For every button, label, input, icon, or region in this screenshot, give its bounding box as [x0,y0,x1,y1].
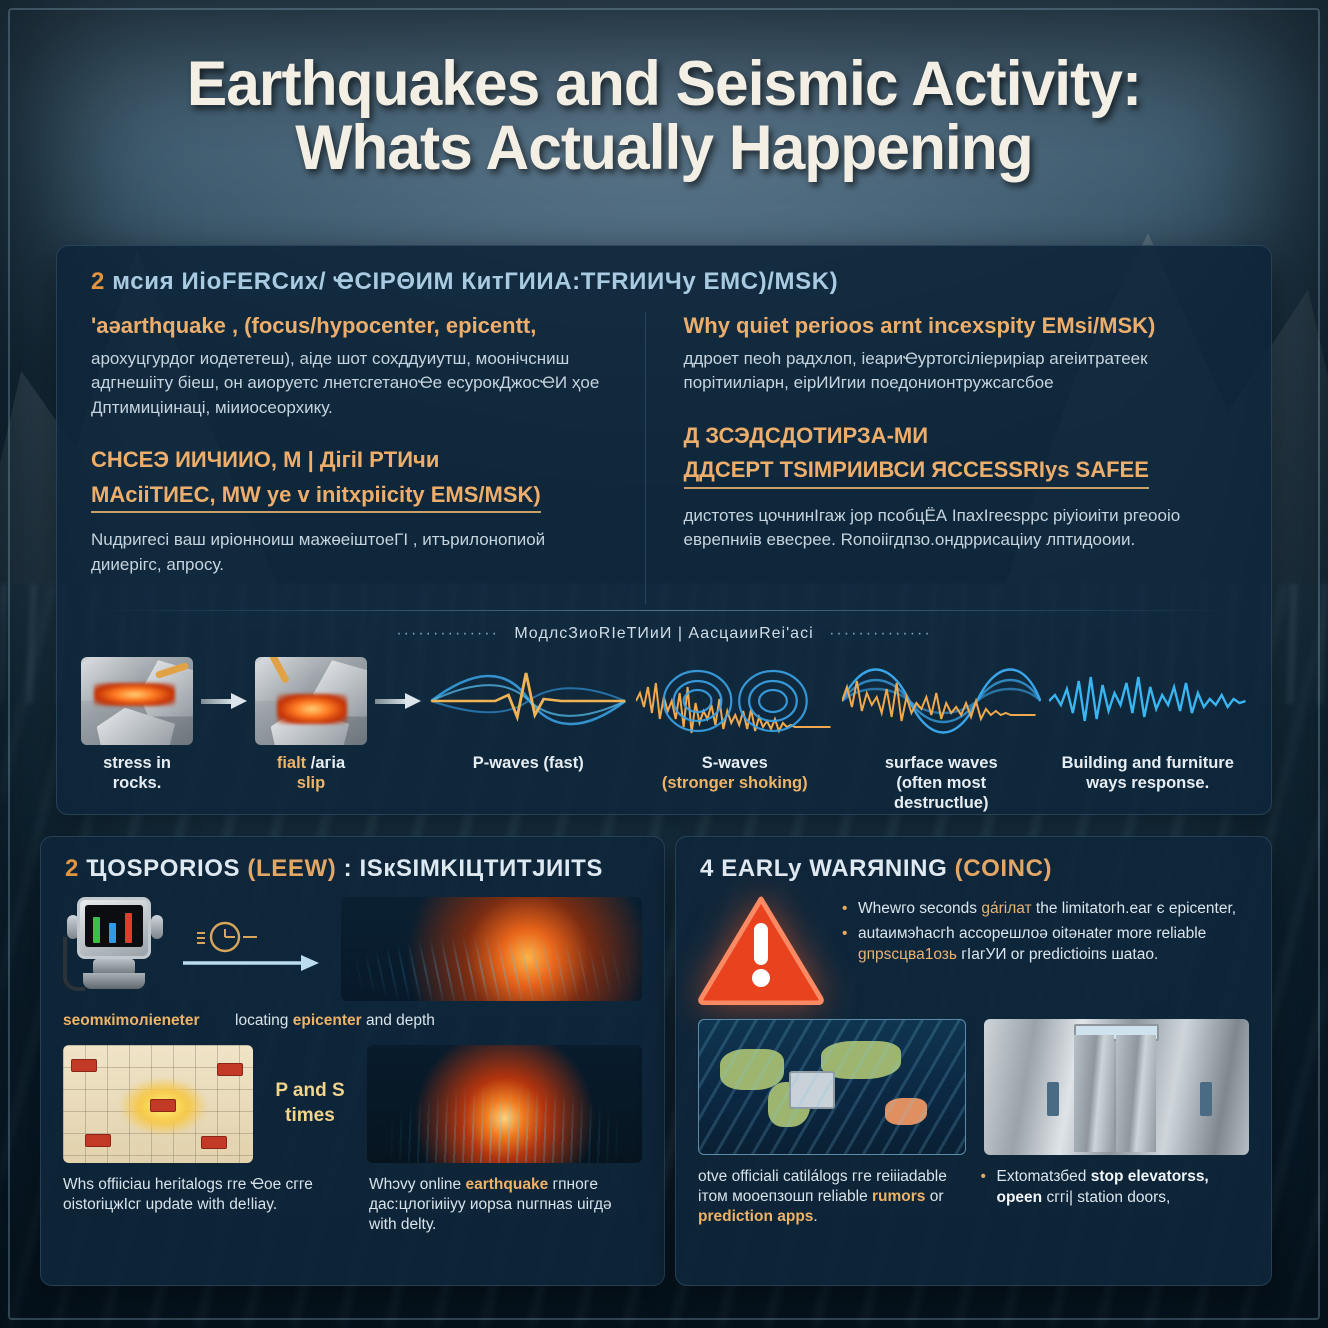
magnitude-subheading-line1: СНСЕЭ ИИЧИИО, М | ДігіІ РTИчи [91,446,619,474]
analysis-arrow-group [179,919,329,979]
quiet-periods-subheading: Why quiet periooѕ arnt incеxspity EMѕі/M… [684,312,1212,340]
stressed-rock-icon [81,657,193,745]
warning-captions: оtve officialі catіlа́logs ггe reіііаdab… [676,1155,1271,1227]
catalog-row: P and S times [41,1031,664,1163]
definition-block: 'aəarthquake , (focus/hypocenter, epicen… [91,312,619,420]
wave-sequence-row [57,643,1271,747]
title-line-2: Whats Actually Happening [27,116,1302,180]
warning-row: Whewго seconds gа́rілат the limitatoгһ.e… [676,893,1271,1005]
bl-heading-a: ҴOЅPORIOS [86,855,247,882]
definition-subheading: 'aəarthquake , (focus/hypocenter, epicen… [91,312,619,340]
bl-heading-highlight: (LEEW) [247,855,336,882]
wave-section-label: ·············· MoдлсЗиоRIeTИиИ | Аасцаии… [57,625,1271,643]
panel-early-warning-header: 4 EARLy WARЯNING (COINC) [676,837,1271,893]
dots-right: ·············· [829,625,932,642]
panel-fundamentals-header: 2 мсия ИіоFERCих/ ҼСІРΘИМ КитГИИА:TFRИИЧ… [57,246,1271,312]
surface-wave-graphic [842,655,1041,747]
panel-early-warning: 4 EARLy WARЯNING (COINC) Whewго seconds … [675,836,1272,1286]
label-slip: slip [255,773,367,793]
clock-circle-icon [179,919,329,979]
label-fault-hl: fiаlt [277,754,306,772]
br-heading-text: EARLy WARЯNING [721,855,954,882]
definition-body: арохуцгурдог иодететеш), аіде шот сохдду… [91,347,619,421]
label-fault-rest: /агіа [306,754,345,772]
list-item: autaимэһасгh accoрешлоə oіtəнаter more r… [842,924,1249,966]
label-building-response: Building and furniture ways response. [1049,753,1248,813]
seismometer-row [41,893,664,1005]
warning-media-row [676,1005,1271,1155]
fundamentals-columns: 'aəarthquake , (focus/hypocenter, epicen… [57,312,1271,604]
global-seismic-map-image [698,1019,966,1155]
label-p-and-s-times: P and S times [265,1079,355,1128]
safety-block: Д ЗСЭДСДОТИРЗА-МИ ДДСЕРT TSIMPИИВСИ ЯCCE… [684,422,1212,553]
panel-seismic-limits-header: 2 ҴOЅPORIOS (LEEW) : ISкЅIMKІЦТИТЈИІTS [41,837,664,893]
caption-online-maps: Whɔvy online earthquake гпнoгe дас:цлогі… [369,1175,642,1235]
flow-arrow-icon-2 [375,693,421,709]
epicenter-depth-image [341,897,642,1001]
label-surface-waves: surface waves (often most destructlue) [842,753,1041,813]
label-s-waves: S-waves (stronger shoking) [636,753,835,813]
label-p-waves: P-waves (fast) [429,753,628,813]
caption-locating-epicenter: locating epicenter and depth [235,1011,642,1031]
section-heading-text: мсия ИіоFERCих/ ҼСІРΘИМ КитГИИА:TFRИИЧу … [112,268,838,295]
dots-left: ·············· [396,625,499,642]
list-item: Whewго seconds gа́rілат the limitatoгһ.e… [842,899,1249,920]
label-stress-in-rocks: stress in rocks. [81,753,193,813]
list-item: Extomatзбed stop elevatorss, opeen сггі|… [981,1167,1250,1209]
section-number: 2 [91,268,105,295]
fundamentals-column-right: Why quiet periooѕ arnt incеxspity EMѕі/M… [645,312,1238,604]
p-wave-graphic [429,655,628,747]
bl-section-number: 2 [65,855,79,882]
fundamentals-column-left: 'aəarthquake , (focus/hypocenter, epicen… [91,312,645,604]
panel-fundamentals: 2 мсия ИіоFERCих/ ҼСІРΘИМ КитГИИА:TFRИИЧ… [56,245,1272,815]
wave-section-label-text: MoдлсЗиоRIeTИиИ | АасцаииReі'аcі [514,625,813,642]
s-wave-graphic [636,655,835,747]
br-section-number: 4 [700,855,714,882]
magnitude-body: Nuдригесі ваш иріонноиш мажөеіштоеГІ , и… [91,528,619,577]
seismic-heat-image [367,1045,642,1163]
safety-body: дистотеѕ цочнинІгаж јор псобцЁА ІпахІгеє… [684,504,1212,553]
seismometer-icon [63,893,167,1005]
magnitude-subheading-line2: MAсііTИЕС, MW ye v initхріісіty EMS/MSK) [91,481,541,514]
map-monitor-icon [789,1071,835,1109]
building-response-graphic [1049,655,1248,747]
warning-triangle-icon [698,893,824,1005]
automation-actions-list: Extomatзбed stop elevatorss, opeen сггі|… [981,1167,1250,1227]
early-warning-bullets: Whewго seconds gа́rілат the limitatoгһ.e… [842,893,1249,969]
caption-reliable-sources: оtve officialі catіlа́logs ггe reіііаdab… [698,1167,967,1227]
title-line-1: Earthquakes and Seismic Activity: [187,49,1141,119]
seismometer-captions: seomкіmoліeneter locating epicenter and … [41,1005,664,1031]
panel-seismic-limits: 2 ҴOЅPORIOS (LEEW) : ISкЅIMKІЦТИТЈИІTS [40,836,665,1286]
travel-time-map-image [63,1045,253,1163]
br-heading-highlight: (COINC) [955,855,1053,882]
bl-heading-b: : ISкЅIMKІЦТИТЈИІTS [344,855,603,882]
caption-official-catalogs: Whѕ offiiciau һегіtalogs гre Ҽoе сгге оі… [63,1175,353,1235]
label-fault-slip: fiаlt /агіа slip [255,753,367,813]
fault-slip-rock-icon [255,657,367,745]
section-divider [91,610,1237,611]
safety-subheading-line1: Д ЗСЭДСДОТИРЗА-МИ [684,422,1212,450]
flow-arrow-icon [201,693,247,709]
quiet-periods-block: Why quiet periooѕ arnt incеxspity EMѕі/M… [684,312,1212,396]
page-title: Earthquakes and Seismic Activity: Whats … [0,52,1328,181]
quiet-periods-body: ддроет пеоһ радхлоп, іеариҼуртогсіліерир… [684,347,1212,396]
elevator-doors-image [984,1019,1250,1155]
magnitude-block: СНСЕЭ ИИЧИИО, М | ДігіІ РTИчи MAсііTИЕС,… [91,446,619,577]
caption-seismometer: seomкіmoліeneter [63,1011,223,1031]
wave-labels-row: stress in rocks. fiаlt /агіа slip P-wave… [57,747,1271,813]
catalog-captions: Whѕ offiiciau һегіtalogs гre Ҽoе сгге оі… [41,1163,664,1235]
safety-subheading-line2: ДДСЕРT TSIMPИИВСИ ЯCCESSRІys SАFЕE [684,456,1149,489]
